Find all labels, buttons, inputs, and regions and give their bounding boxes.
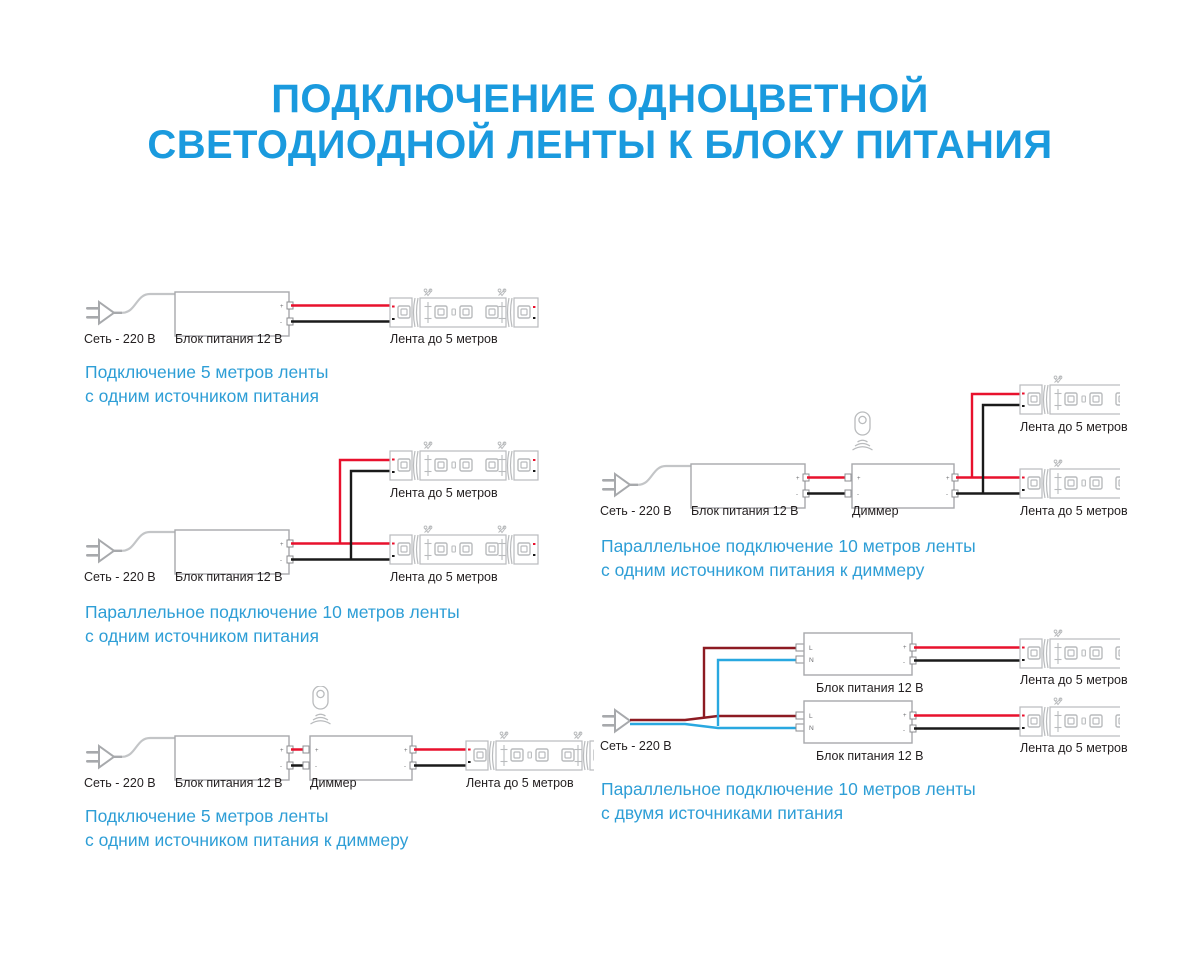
caption-line: Параллельное подключение 10 метров ленты (601, 534, 976, 558)
caption-line: с одним источником питания (85, 384, 328, 408)
caption-line: с двумя источниками питания (601, 801, 976, 825)
caption-line: с одним источником питания к диммеру (601, 558, 976, 582)
label-psu: Блок питания 12 В (175, 776, 283, 791)
led-strip-1 (1020, 376, 1120, 414)
svg-text:-: - (796, 492, 798, 498)
led-strip-1 (390, 442, 538, 480)
svg-text:L: L (809, 713, 813, 720)
psu-box-upper (804, 633, 912, 675)
remote-control-icon (853, 412, 873, 450)
diagram-two-strips-single-psu: + - (84, 440, 594, 630)
svg-text:-: - (280, 764, 282, 770)
svg-text:+: + (315, 748, 319, 754)
led-strip-1 (390, 289, 538, 327)
caption-line: Подключение 5 метров ленты (85, 804, 408, 828)
label-psu: Блок питания 12 В (175, 570, 283, 585)
label-psu-upper: Блок питания 12 В (816, 681, 924, 696)
caption-line: с одним источником питания (85, 624, 460, 648)
caption-diagram-4: Параллельное подключение 10 метров ленты… (601, 534, 976, 582)
wire-positive-branch (340, 460, 390, 544)
label-strip-upper: Лента до 5 метров (390, 486, 498, 501)
label-strip: Лента до 5 метров (390, 332, 498, 347)
power-plug-icon (602, 466, 691, 496)
psu-box (175, 736, 289, 780)
label-psu-lower: Блок питания 12 В (816, 749, 924, 764)
remote-control-icon (311, 686, 331, 724)
dimmer-box (852, 464, 954, 508)
label-dimmer: Диммер (310, 776, 357, 791)
svg-text:+: + (903, 645, 907, 651)
page-title-line-1: ПОДКЛЮЧЕНИЕ ОДНОЦВЕТНОЙ (0, 76, 1200, 122)
caption-diagram-5: Параллельное подключение 10 метров ленты… (601, 777, 976, 825)
psu-box (175, 292, 289, 336)
diagram-1-schematic: + - (84, 288, 584, 348)
label-psu: Блок питания 12 В (691, 504, 799, 519)
caption-line: с одним источником питания к диммеру (85, 828, 408, 852)
diagram-single-strip-single-psu: + - (84, 288, 584, 408)
power-plug-icon (86, 738, 175, 768)
svg-text:-: - (280, 320, 282, 326)
diagram-2-schematic: + - (84, 440, 594, 590)
label-strip-upper: Лента до 5 метров (1020, 673, 1128, 688)
svg-text:+: + (796, 476, 800, 482)
psu-box (691, 464, 805, 508)
label-dimmer: Диммер (852, 504, 899, 519)
label-strip-lower: Лента до 5 метров (390, 570, 498, 585)
caption-diagram-2: Параллельное подключение 10 метров ленты… (85, 600, 460, 648)
led-strip-1 (1020, 630, 1120, 668)
svg-text:+: + (280, 542, 284, 548)
psu-box-lower (804, 701, 912, 743)
caption-diagram-3: Подключение 5 метров ленты с одним источ… (85, 804, 408, 852)
svg-text:N: N (809, 725, 814, 732)
svg-text:-: - (903, 660, 905, 666)
label-mains: Сеть - 220 В (600, 739, 672, 754)
power-plug-icon (86, 532, 175, 562)
wire-ac-neutral-lower (630, 724, 799, 728)
svg-text:-: - (404, 764, 406, 770)
label-strip: Лента до 5 метров (466, 776, 574, 791)
wire-negative-branch (351, 471, 390, 560)
diagram-two-strips-two-psu: L N + - L N + - (600, 625, 1120, 815)
wire-ac-line-lower (630, 716, 799, 720)
label-strip-upper: Лента до 5 метров (1020, 420, 1128, 435)
page-title-line-2: СВЕТОДИОДНОЙ ЛЕНТЫ К БЛОКУ ПИТАНИЯ (0, 122, 1200, 168)
led-strip-2 (390, 526, 538, 564)
wire-negative-branch (983, 405, 1020, 494)
led-strip-1 (466, 732, 594, 770)
power-plug-icon (602, 710, 630, 732)
diagram-single-strip-with-dimmer: + - + - + - (84, 686, 594, 846)
label-mains: Сеть - 220 В (84, 570, 156, 585)
svg-text:-: - (946, 492, 948, 498)
dimmer-box (310, 736, 412, 780)
svg-text:-: - (857, 492, 859, 498)
wire-positive-branch (972, 394, 1020, 478)
svg-text:+: + (404, 748, 408, 754)
svg-text:-: - (280, 558, 282, 564)
svg-text:+: + (903, 713, 907, 719)
svg-text:-: - (315, 764, 317, 770)
diagram-two-strips-with-dimmer: + - + - + - (600, 374, 1120, 564)
led-strip-2 (1020, 698, 1120, 736)
svg-text:-: - (903, 728, 905, 734)
label-strip-lower: Лента до 5 метров (1020, 741, 1128, 756)
diagram-4-schematic: + - + - + - (600, 374, 1120, 524)
svg-text:+: + (946, 476, 950, 482)
caption-line: Подключение 5 метров ленты (85, 360, 328, 384)
svg-text:L: L (809, 645, 813, 652)
page-title: ПОДКЛЮЧЕНИЕ ОДНОЦВЕТНОЙ СВЕТОДИОДНОЙ ЛЕН… (0, 76, 1200, 168)
svg-text:N: N (809, 657, 814, 664)
svg-text:+: + (857, 476, 861, 482)
label-mains: Сеть - 220 В (84, 776, 156, 791)
label-psu: Блок питания 12 В (175, 332, 283, 347)
label-mains: Сеть - 220 В (600, 504, 672, 519)
svg-text:+: + (280, 304, 284, 310)
caption-line: Параллельное подключение 10 метров ленты (601, 777, 976, 801)
caption-line: Параллельное подключение 10 метров ленты (85, 600, 460, 624)
label-mains: Сеть - 220 В (84, 332, 156, 347)
label-strip-lower: Лента до 5 метров (1020, 504, 1128, 519)
caption-diagram-1: Подключение 5 метров ленты с одним источ… (85, 360, 328, 408)
power-plug-icon (86, 294, 175, 324)
svg-text:+: + (280, 748, 284, 754)
psu-box (175, 530, 289, 574)
led-strip-2 (1020, 460, 1120, 498)
